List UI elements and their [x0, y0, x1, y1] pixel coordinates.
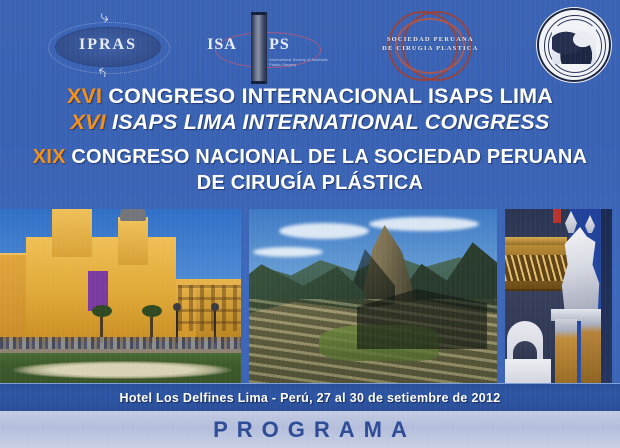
title-line-3: XIX CONGRESO NACIONAL DE LA SOCIEDAD PER…: [0, 144, 620, 170]
colonial-flag: [553, 209, 561, 223]
seal-emblem-icon: [552, 26, 596, 64]
logo-row: ⤷ IPRAS ⤷ ISA PS International Society o…: [0, 6, 620, 84]
title-line-2: XVI ISAPS LIMA INTERNATIONAL CONGRESS: [0, 109, 620, 135]
colonial-lower-wall: [505, 359, 551, 383]
title-line-1-text: CONGRESO INTERNACIONAL ISAPS LIMA: [108, 84, 553, 108]
spcp-logo-line1: SOCIEDAD PERUANA: [362, 35, 498, 44]
lima-tower-right-cap: [120, 209, 146, 221]
machu-cloud-3: [253, 247, 323, 257]
lima-flowerbed: [12, 361, 232, 379]
title-line-2-roman: XVI: [71, 110, 106, 134]
isaps-column-icon: [251, 12, 267, 84]
sociedad-peruana-logo: SOCIEDAD PERUANA DE CIRUGIA PLASTICA: [354, 6, 487, 84]
colonial-right-shadow: [601, 209, 612, 383]
colonial-balcony-lattice: [505, 255, 567, 281]
isaps-logo: ISA PS International Society of Aestheti…: [193, 6, 326, 84]
photo-strip: [0, 209, 620, 383]
photo-colonial-balcony: [505, 209, 612, 383]
seal-logo: [513, 6, 620, 84]
machu-cloud-1: [279, 223, 369, 239]
lima-window-grid: [178, 285, 241, 331]
photo-machu-picchu: [249, 209, 497, 383]
program-label: PROGRAMA: [204, 417, 416, 443]
title-line-1: XVI CONGRESO INTERNACIONAL ISAPS LIMA: [0, 84, 620, 109]
program-band: PROGRAMA: [0, 411, 620, 448]
title-line-3-roman: XIX: [33, 146, 66, 168]
title-block: XVI CONGRESO INTERNACIONAL ISAPS LIMA XV…: [0, 84, 620, 196]
title-line-2-text: ISAPS LIMA INTERNATIONAL CONGRESS: [112, 110, 549, 134]
lima-tower-right: [118, 217, 148, 265]
photo-gap-1: [241, 209, 249, 383]
ipras-logo-text: IPRAS: [56, 36, 160, 54]
isaps-logo-text-right: PS: [269, 36, 290, 54]
colonial-pillar-2: [581, 313, 601, 383]
isaps-logo-subtext: International Society of Aesthetic Plast…: [269, 58, 339, 68]
poster: ⤷ IPRAS ⤷ ISA PS International Society o…: [0, 0, 620, 448]
isaps-logo-text-left: ISA: [207, 36, 237, 54]
title-line-4: DE CIRUGÍA PLÁSTICA: [0, 170, 620, 196]
lima-tower-left: [52, 209, 92, 257]
title-line-1-roman: XVI: [67, 84, 102, 108]
ipras-logo: ⤷ IPRAS ⤷: [38, 6, 171, 84]
spcp-logo-line2: DE CIRUGIA PLASTICA: [362, 44, 498, 53]
venue-band: Hotel Los Delfines Lima - Perú, 27 al 30…: [0, 383, 620, 412]
photo-lima-cathedral: [0, 209, 241, 383]
title-line-3-text: CONGRESO NACIONAL DE LA SOCIEDAD PERUANA: [71, 146, 587, 168]
colonial-pillar-1: [555, 319, 577, 383]
photo-gap-2: [497, 209, 505, 383]
venue-text: Hotel Los Delfines Lima - Perú, 27 al 30…: [120, 391, 501, 405]
